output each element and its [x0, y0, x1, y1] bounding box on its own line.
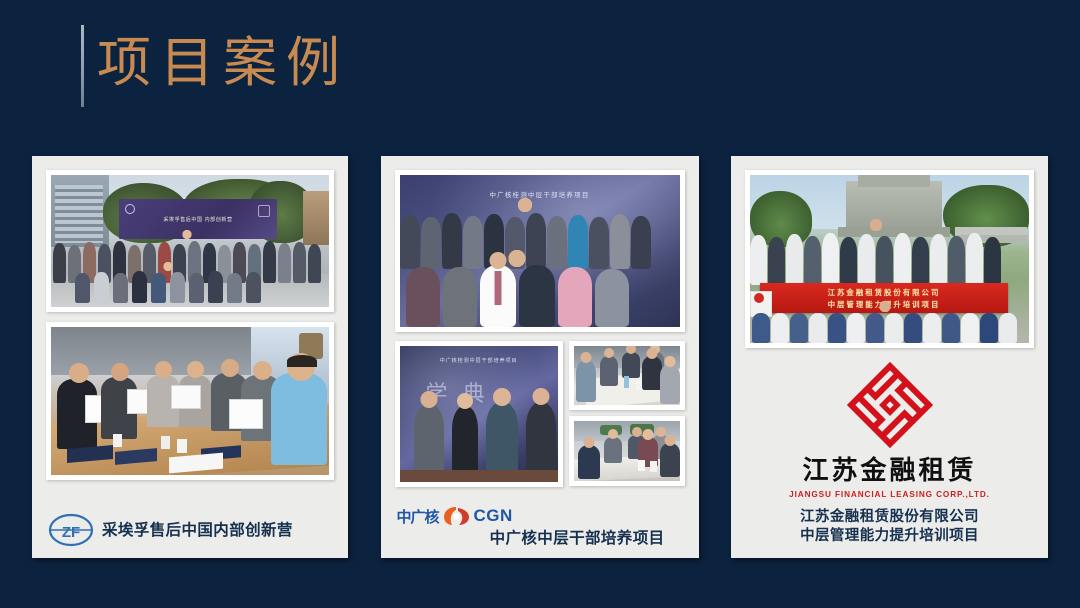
photo-frame-zf-workshop	[46, 322, 334, 480]
zf-logo: ZF	[48, 513, 94, 547]
cgn-backdrop-text: 中广核桂测中层干部培养项目	[489, 189, 589, 199]
jiangsu-financial-leasing-logo: 江苏金融租赁 JIANGSU FINANCIAL LEASING CORP.,L…	[745, 356, 1034, 501]
photo-frame-jsfl-group: 江苏金融租赁股份有限公司 中层管理能力提升培训项目	[745, 170, 1034, 348]
photo-frame-cgn-discussion	[569, 341, 685, 410]
project-card-zf[interactable]: 采埃孚售后中国 内部创新营	[32, 156, 348, 558]
card-caption-jsfl-line-2: 中层管理能力提升培训项目	[747, 527, 1032, 546]
cgn-ceremony-banner: 中广核桂测中层干部培养项目	[400, 354, 558, 366]
zf-banner: 采埃孚售后中国 内部创新营	[119, 199, 277, 239]
cgn-right-photo-stack	[569, 341, 685, 487]
jsfl-logo-en: JIANGSU FINANCIAL LEASING CORP.,LTD.	[789, 490, 990, 499]
cgn-classroom-photo	[574, 421, 680, 481]
cgn-backdrop-banner: 中广核桂测中层干部培养项目	[400, 187, 680, 201]
cgn-ceremony-photo: 中广核桂测中层干部培养项目 学 典	[400, 346, 558, 482]
page-title: 项目案例	[97, 24, 349, 102]
photo-frame-cgn-group: 中广核桂测中层干部培养项目	[395, 170, 685, 332]
project-case-card-row: 采埃孚售后中国 内部创新营	[32, 156, 1048, 558]
cgn-group-photo: 中广核桂测中层干部培养项目	[400, 175, 680, 327]
cgn-logo-en: CGN	[474, 506, 513, 526]
jsfl-logo-cn: 江苏金融租赁	[802, 450, 976, 487]
card-label-jsfl: 江苏金融租赁股份有限公司 中层管理能力提升培训项目	[745, 502, 1034, 558]
photo-frame-zf-outdoor: 采埃孚售后中国 内部创新营	[46, 170, 334, 312]
card-caption-zf: 采埃孚售后中国内部创新营	[102, 521, 293, 540]
cgn-logo: 中广核 CGN 中广核中层干部培养项目	[397, 505, 683, 548]
jsfl-banner-line-1: 江苏金融租赁股份有限公司	[828, 287, 941, 298]
jsfl-square-knot-icon	[847, 362, 933, 448]
jsfl-group-photo: 江苏金融租赁股份有限公司 中层管理能力提升培训项目	[750, 175, 1029, 343]
title-accent-bar	[81, 25, 84, 107]
card-caption-cgn: 中广核中层干部培养项目	[490, 530, 665, 547]
photo-frame-cgn-classroom	[569, 416, 685, 486]
project-card-cgn[interactable]: 中广核桂测中层干部培养项目	[381, 156, 699, 558]
cgn-logo-cn: 中广核	[397, 506, 439, 527]
photo-frame-cgn-ceremony: 中广核桂测中层干部培养项目 学 典	[395, 341, 563, 487]
zf-outdoor-group-photo: 采埃孚售后中国 内部创新营	[51, 175, 329, 307]
cgn-ceremony-banner-text: 中广核桂测中层干部培养项目	[440, 357, 518, 364]
slide-header: 项目案例	[0, 0, 1080, 150]
zf-banner-text: 采埃孚售后中国 内部创新营	[163, 216, 232, 223]
cgn-lower-photo-grid: 中广核桂测中层干部培养项目 学 典	[395, 341, 685, 487]
cgn-discussion-photo	[574, 346, 680, 405]
project-card-jsfl[interactable]: 江苏金融租赁股份有限公司 中层管理能力提升培训项目	[731, 156, 1048, 558]
card-label-zf: ZF 采埃孚售后中国内部创新营	[46, 506, 334, 558]
svg-text:ZF: ZF	[62, 524, 80, 541]
zf-workshop-photo	[51, 327, 329, 475]
card-label-cgn: 中广核 CGN 中广核中层干部培养项目	[395, 501, 685, 558]
cgn-swirl-icon	[442, 505, 472, 527]
card-caption-jsfl-line-1: 江苏金融租赁股份有限公司	[747, 508, 1032, 527]
